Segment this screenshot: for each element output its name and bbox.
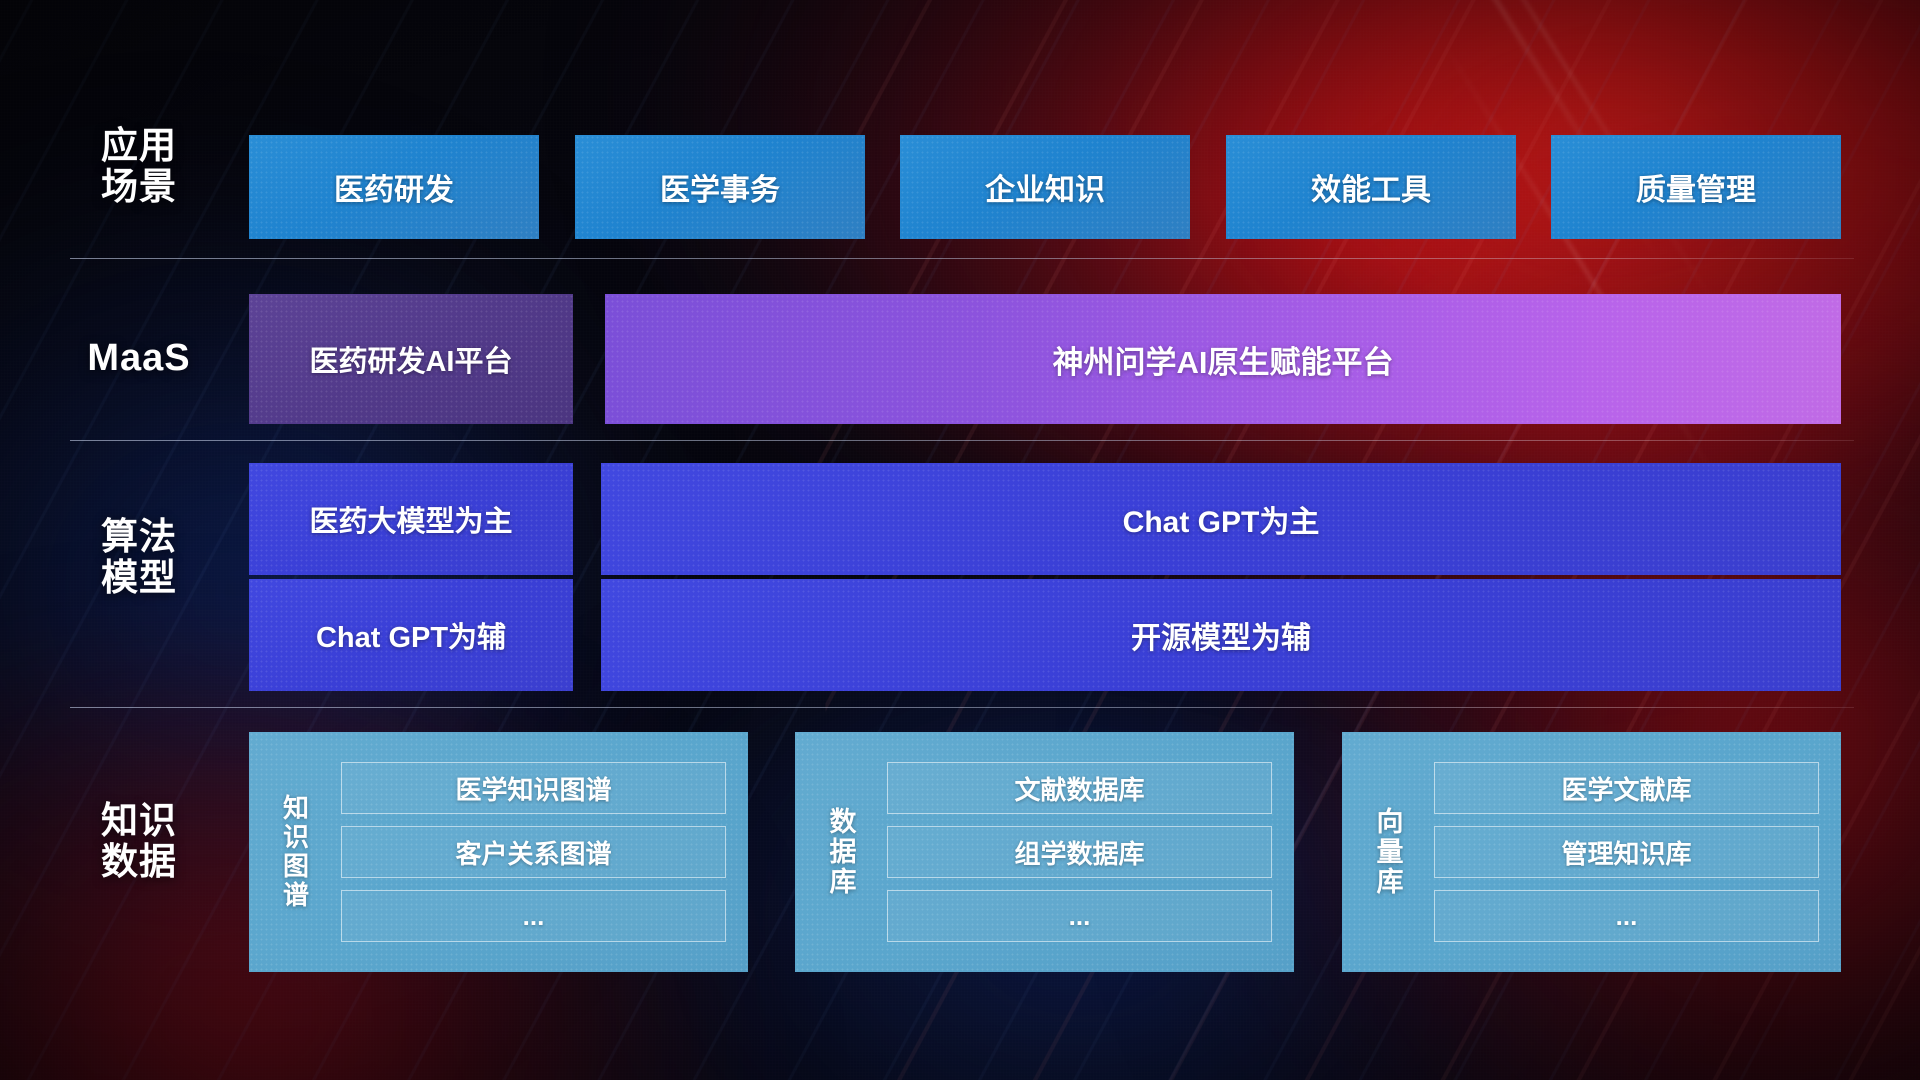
knowledge-item[interactable]: ...	[1434, 890, 1819, 942]
divider-3	[70, 707, 1854, 708]
app-card-1[interactable]: 医药研发	[249, 135, 539, 239]
knowledge-item[interactable]: 文献数据库	[887, 762, 1272, 814]
knowledge-item[interactable]: ...	[887, 890, 1272, 942]
maas-platform-card-label: 医药研发AI平台	[309, 338, 512, 380]
app-card-3[interactable]: 企业知识	[900, 135, 1190, 239]
knowledge-item[interactable]: 组学数据库	[887, 826, 1272, 878]
divider-2	[70, 440, 1854, 441]
algo-card-secondary-right[interactable]: 开源模型为辅	[601, 579, 1841, 691]
maas-banner-card[interactable]: 神州问学AI原生赋能平台	[605, 294, 1841, 424]
app-card-3-label: 企业知识	[985, 165, 1105, 209]
row-label-maas-text: MaaS	[87, 337, 190, 379]
algo-card-primary-right-label: Chat GPT为主	[1123, 497, 1320, 541]
row-label-algorithm-text: 算法模型	[101, 516, 177, 598]
knowledge-group-2-items: 文献数据库 组学数据库 ...	[887, 732, 1294, 972]
app-card-5-label: 质量管理	[1636, 165, 1756, 209]
knowledge-group-2[interactable]: 数据库 文献数据库 组学数据库 ...	[795, 732, 1294, 972]
app-card-4[interactable]: 效能工具	[1226, 135, 1516, 239]
row-label-knowledge: 知识数据	[74, 800, 204, 883]
maas-banner-card-label: 神州问学AI原生赋能平台	[1053, 337, 1394, 382]
algo-card-secondary-left-label: Chat GPT为辅	[316, 614, 506, 656]
architecture-diagram: 应用场景 医药研发 医学事务 企业知识 效能工具 质量管理 MaaS 医药研发A…	[0, 0, 1920, 1080]
knowledge-group-2-label: 数据库	[795, 732, 887, 972]
row-label-algorithm: 算法模型	[74, 516, 204, 599]
row-label-application: 应用场景	[74, 125, 204, 208]
algo-card-secondary-right-label: 开源模型为辅	[1131, 613, 1311, 657]
knowledge-group-3-label: 向量库	[1342, 732, 1434, 972]
knowledge-group-1-label: 知识图谱	[249, 732, 341, 972]
knowledge-group-1[interactable]: 知识图谱 医学知识图谱 客户关系图谱 ...	[249, 732, 748, 972]
app-card-4-label: 效能工具	[1311, 165, 1431, 209]
knowledge-item[interactable]: 客户关系图谱	[341, 826, 726, 878]
divider-1	[70, 258, 1854, 259]
algo-card-primary-right[interactable]: Chat GPT为主	[601, 463, 1841, 575]
knowledge-group-3[interactable]: 向量库 医学文献库 管理知识库 ...	[1342, 732, 1841, 972]
row-label-application-text: 应用场景	[101, 125, 177, 207]
algo-card-primary-left-label: 医药大模型为主	[309, 498, 512, 540]
algo-card-primary-left[interactable]: 医药大模型为主	[249, 463, 573, 575]
app-card-5[interactable]: 质量管理	[1551, 135, 1841, 239]
knowledge-item[interactable]: 医学知识图谱	[341, 762, 726, 814]
knowledge-group-3-items: 医学文献库 管理知识库 ...	[1434, 732, 1841, 972]
maas-platform-card[interactable]: 医药研发AI平台	[249, 294, 573, 424]
knowledge-group-1-items: 医学知识图谱 客户关系图谱 ...	[341, 732, 748, 972]
row-label-maas: MaaS	[74, 337, 204, 380]
knowledge-item[interactable]: ...	[341, 890, 726, 942]
knowledge-item[interactable]: 医学文献库	[1434, 762, 1819, 814]
row-label-knowledge-text: 知识数据	[101, 800, 177, 882]
knowledge-item[interactable]: 管理知识库	[1434, 826, 1819, 878]
algo-card-secondary-left[interactable]: Chat GPT为辅	[249, 579, 573, 691]
app-card-2[interactable]: 医学事务	[575, 135, 865, 239]
app-card-2-label: 医学事务	[660, 165, 780, 209]
app-card-1-label: 医药研发	[334, 165, 454, 209]
